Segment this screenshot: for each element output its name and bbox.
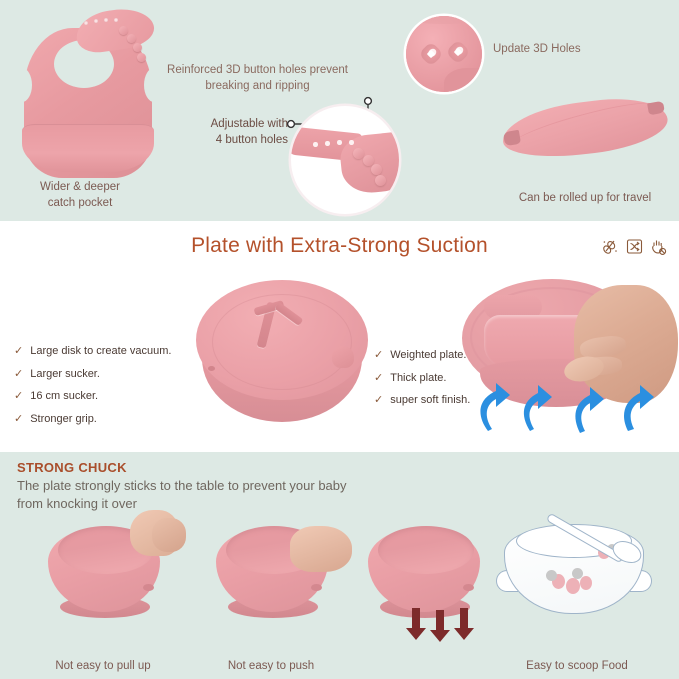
hand-no-touch-icon — [650, 237, 667, 256]
subtitle-line2: from knocking it over — [17, 495, 447, 513]
plate-section-title: Plate with Extra-Strong Suction — [0, 234, 679, 258]
magnified-button — [353, 148, 364, 159]
strong-chuck-section: STRONG CHUCK The plate strongly sticks t… — [0, 452, 679, 679]
bowl-panel-scoop: Easy to scoop Food — [482, 514, 672, 679]
suction-spiral-icon — [602, 237, 619, 256]
bowl-illustration — [216, 522, 328, 614]
bowl-demo-row: Not easy to pull up Not easy to push — [0, 514, 679, 679]
feature-item: ✓ Larger sucker. — [14, 368, 171, 381]
product-infographic: Wider & deeper catch pocket Reinforced 3… — [0, 0, 679, 679]
spoon-handle — [546, 513, 625, 564]
bowl-panel-caption: Easy to scoop Food — [482, 660, 672, 672]
feature-label: Thick plate. — [390, 372, 446, 385]
magnified-button-hole — [313, 142, 318, 147]
strong-chuck-subtitle: The plate strongly sticks to the table t… — [17, 477, 447, 514]
bowl-nub — [311, 584, 322, 591]
magnified-3d-holes-circle — [406, 16, 482, 92]
check-icon: ✓ — [14, 390, 23, 402]
valve-arm-right — [275, 302, 304, 326]
rolled-bib-illustration — [502, 94, 668, 162]
food-piece — [566, 578, 580, 594]
bib-illustration — [18, 6, 158, 181]
bowl-nub — [143, 584, 154, 591]
feature-label: Larger sucker. — [30, 368, 100, 381]
adjustable-line2: 4 button holes — [178, 133, 288, 149]
feature-label: Large disk to create vacuum. — [30, 345, 171, 358]
subtitle-line1: The plate strongly sticks to the table t… — [17, 477, 447, 495]
plate-feature-icons — [602, 237, 667, 256]
bib-waist-left — [12, 68, 32, 102]
food-piece — [546, 570, 557, 581]
bowl-cavity — [378, 526, 474, 574]
bib-button — [127, 34, 136, 43]
scoop-bowl-illustration — [500, 512, 648, 622]
spoon-illustration — [548, 508, 640, 564]
magnified-button-hole — [325, 141, 330, 146]
shuffle-box-icon — [626, 237, 643, 256]
adjustable-line1: Adjustable with — [178, 117, 288, 133]
plate-nub — [208, 366, 215, 371]
plate-section: Plate with Extra-Strong Suction — [0, 221, 679, 452]
bowl-nub — [463, 584, 474, 591]
plate-underside-illustration — [196, 274, 368, 434]
bib-catch-pocket — [22, 124, 154, 172]
magnified-button-holes-circle — [291, 106, 399, 214]
update-3d-holes-label: Update 3D Holes — [493, 43, 581, 55]
food-piece — [580, 576, 592, 590]
feature-item: ✓ 16 cm sucker. — [14, 390, 171, 403]
magnified-3d-holes-corner — [444, 68, 482, 92]
bib-button-hole — [114, 18, 118, 22]
bib-caption: Wider & deeper catch pocket — [0, 180, 160, 211]
reinforced-holes-text: Reinforced 3D button holes prevent break… — [150, 62, 365, 94]
check-icon: ✓ — [374, 372, 383, 384]
strong-chuck-heading: STRONG CHUCK — [17, 460, 127, 475]
magnified-button — [371, 164, 382, 175]
bib-section: Wider & deeper catch pocket Reinforced 3… — [0, 0, 679, 221]
suction-force-arrows-up — [452, 357, 678, 435]
bib-caption-line1: Wider & deeper — [0, 180, 160, 196]
bib-button-hole — [104, 18, 108, 22]
bib-button — [133, 43, 142, 52]
rolled-bib-seam — [509, 95, 660, 155]
bib-caption-line2: catch pocket — [0, 196, 160, 212]
check-icon: ✓ — [14, 345, 23, 357]
rolled-bib-caption: Can be rolled up for travel — [470, 192, 679, 204]
bib-button — [137, 53, 146, 62]
magnified-button-hole — [349, 140, 354, 145]
check-icon: ✓ — [374, 394, 383, 406]
check-icon: ✓ — [374, 349, 383, 361]
plate-valve — [248, 302, 310, 352]
bowl-panel-pull-up: Not easy to pull up — [18, 514, 188, 679]
hand-pulling-fingers — [152, 518, 186, 552]
rolled-bib-body — [499, 92, 670, 164]
adjustable-text: Adjustable with 4 button holes — [178, 117, 288, 148]
bib-button — [119, 26, 128, 35]
magnified-button — [375, 175, 386, 186]
bowl-illustration — [368, 522, 480, 614]
bowl-panel-caption: Not easy to push — [186, 660, 356, 672]
reinforced-line1: Reinforced 3D button holes prevent — [150, 62, 365, 78]
bib-button-hole — [84, 21, 88, 25]
feature-label: Stronger grip. — [30, 413, 97, 426]
bowl-panel-push: Not easy to push — [186, 514, 356, 679]
bowl-illustration — [48, 522, 160, 614]
feature-item: ✓ Stronger grip. — [14, 413, 171, 426]
feature-item: ✓ Large disk to create vacuum. — [14, 345, 171, 358]
bib-strap — [74, 5, 157, 55]
check-icon: ✓ — [14, 368, 23, 380]
plate-release-tab — [332, 346, 354, 368]
feature-label: 16 cm sucker. — [30, 390, 98, 403]
bib-button-hole — [94, 19, 98, 23]
spoon-bowl — [609, 537, 645, 567]
downward-force-arrows — [402, 608, 482, 642]
magnified-button-hole — [337, 140, 342, 145]
reinforced-line2: breaking and ripping — [150, 78, 365, 94]
plate-features-left: ✓ Large disk to create vacuum. ✓ Larger … — [14, 345, 171, 436]
plate-with-hand-illustration — [452, 271, 678, 436]
bowl-panel-caption: Not easy to pull up — [18, 660, 188, 672]
check-icon: ✓ — [14, 413, 23, 425]
